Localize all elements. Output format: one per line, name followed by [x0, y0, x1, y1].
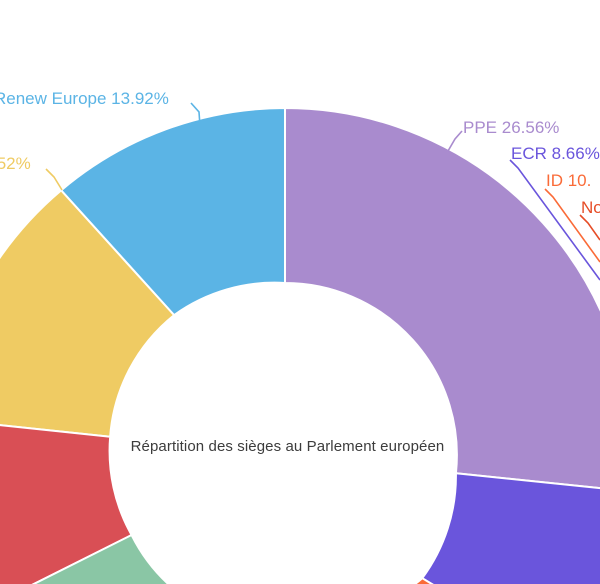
- leader-line-ni: [580, 215, 600, 240]
- slice-ecr[interactable]: [422, 473, 600, 584]
- slice-ppe[interactable]: [285, 108, 600, 491]
- donut-chart: Renew Europe 13.92% .52% PPE 26.56% ECR …: [0, 0, 600, 584]
- leader-line-ppe: [448, 131, 462, 151]
- leader-line-verts: [46, 169, 62, 190]
- donut-chart-svg: [0, 0, 600, 584]
- donut-slices: [0, 108, 600, 584]
